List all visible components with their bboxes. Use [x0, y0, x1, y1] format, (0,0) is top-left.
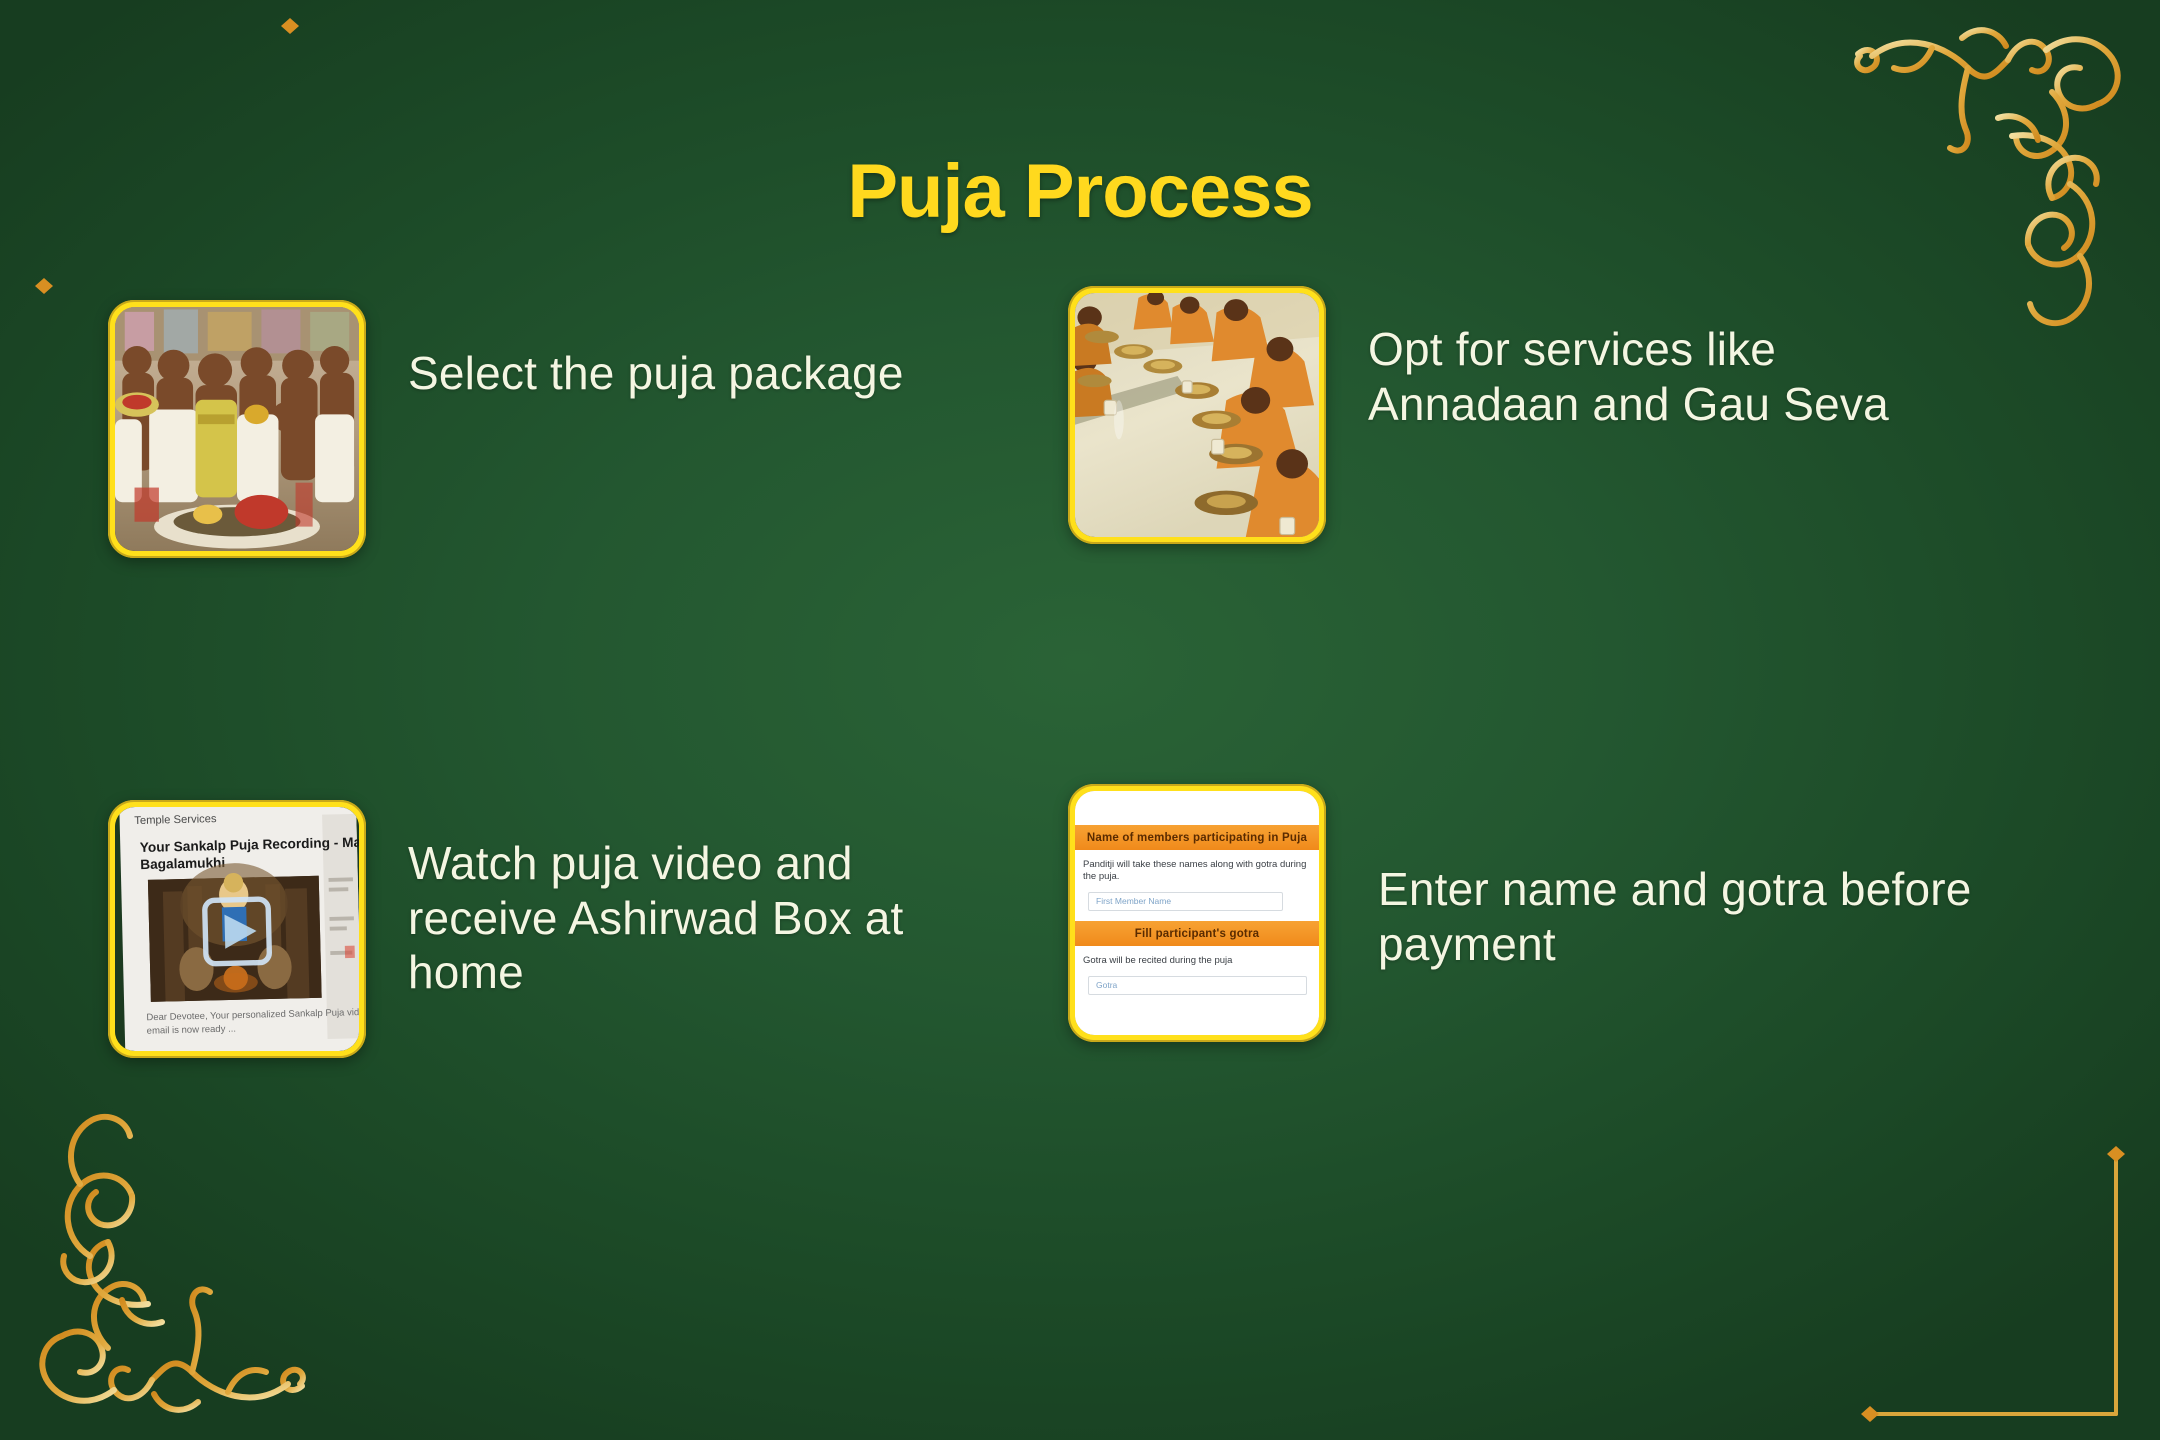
form-top-spacer: [1075, 791, 1319, 825]
gotra-input[interactable]: Gotra: [1088, 976, 1307, 995]
step-label: Opt for services like Annadaan and Gau S…: [1368, 322, 1988, 431]
email-brand-text: Temple Services: [134, 813, 217, 827]
puja-priests-photo-icon: [115, 307, 359, 551]
step-watch-video: Temple Services Your Sankalp Puja Record…: [0, 800, 1080, 1100]
step-opt-services: Opt for services like Annadaan and Gau S…: [1068, 300, 2160, 600]
email-video-screenshot-icon: Temple Services Your Sankalp Puja Record…: [115, 807, 359, 1051]
gotra-section-header: Fill participant's gotra: [1075, 921, 1319, 946]
step-enter-gotra: Name of members participating in Puja Pa…: [1068, 800, 2160, 1100]
thumbnail-frame[interactable]: [108, 300, 366, 558]
member-name-input[interactable]: First Member Name: [1088, 892, 1283, 911]
gotra-section-body: Gotra will be recited during the puja Go…: [1075, 946, 1319, 1005]
gotra-form-screenshot-icon: Name of members participating in Puja Pa…: [1075, 791, 1319, 1035]
svg-text:email is now ready ...: email is now ready ...: [147, 1024, 236, 1037]
thumbnail-frame[interactable]: Name of members participating in Puja Pa…: [1068, 784, 1326, 1042]
members-section-header: Name of members participating in Puja: [1075, 825, 1319, 850]
members-section-body: Panditji will take these names along wit…: [1075, 850, 1319, 921]
page-title: Puja Process: [0, 148, 2160, 235]
corner-bottom-left-ornament: [8, 1102, 348, 1432]
step-label: Watch puja video and receive Ashirwad Bo…: [408, 836, 968, 1000]
members-note: Panditji will take these names along wit…: [1083, 859, 1311, 883]
steps-grid: Select the puja package: [0, 300, 2160, 1100]
step-select-package: Select the puja package: [0, 300, 1080, 600]
thumbnail-frame[interactable]: [1068, 286, 1326, 544]
corner-bottom-right-ornament: [1842, 1132, 2142, 1422]
step-label: Enter name and gotra before payment: [1378, 862, 1998, 971]
thumbnail-frame[interactable]: Temple Services Your Sankalp Puja Record…: [108, 800, 366, 1058]
annadaan-seva-photo-icon: [1075, 293, 1319, 537]
form-bottom-spacer: [1075, 1005, 1319, 1035]
step-label: Select the puja package: [408, 346, 904, 401]
gotra-note: Gotra will be recited during the puja: [1083, 955, 1311, 967]
